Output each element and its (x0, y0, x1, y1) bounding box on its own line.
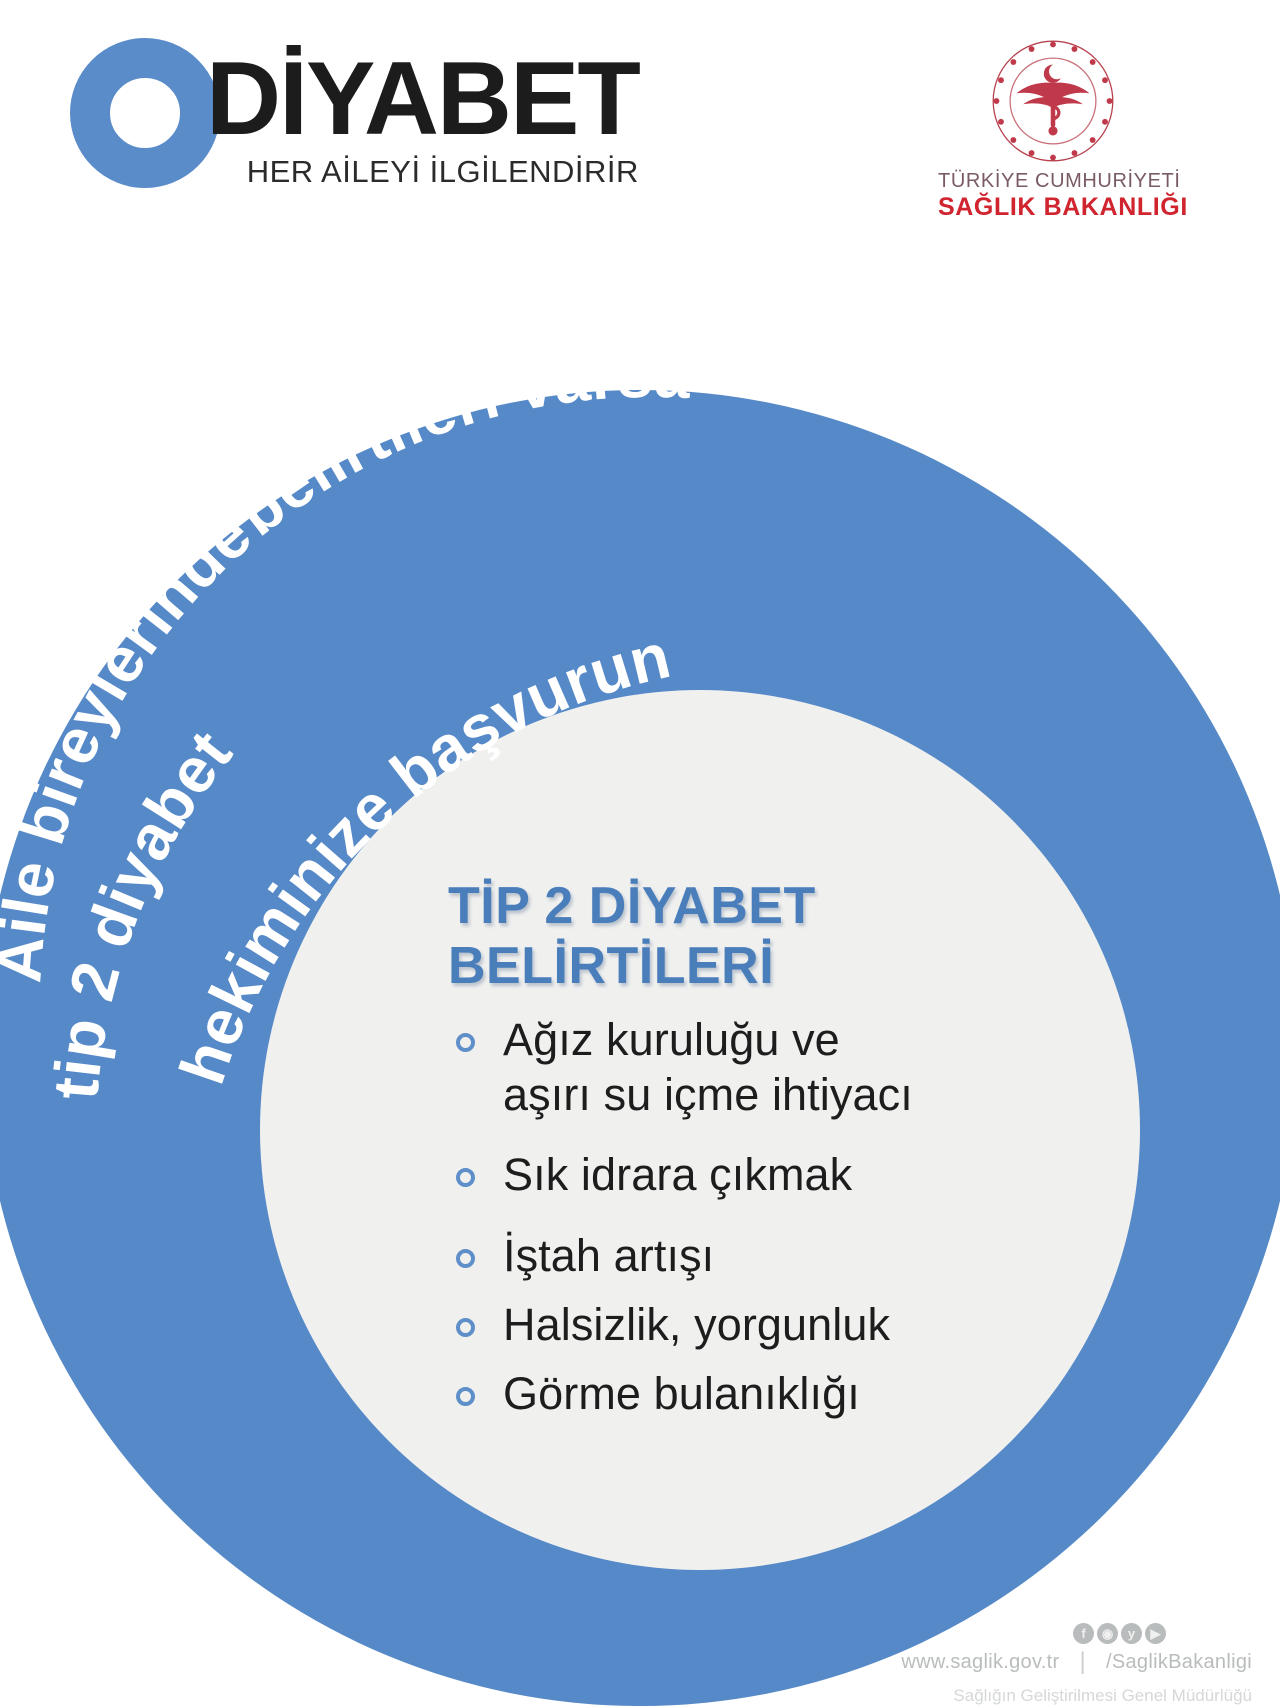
poster-footer: f ◉ y ▶ www.saglik.gov.tr | /SaglikBakan… (792, 1623, 1252, 1706)
footer-divider: | (1079, 1648, 1086, 1676)
hollow-circle-bullet-icon (456, 1249, 475, 1268)
symptoms-panel: TİP 2 DİYABET BELİRTİLERİ Ağız kuruluğu … (448, 876, 1068, 1436)
hollow-circle-bullet-icon (456, 1033, 475, 1052)
symptoms-heading-line-1: TİP 2 DİYABET (448, 877, 816, 935)
brand-text-block: DİYABET HER AİLEYİ İLGİLENDİRİR (206, 34, 639, 190)
symptoms-heading: TİP 2 DİYABET BELİRTİLERİ (448, 876, 1068, 997)
hollow-circle-bullet-icon (456, 1168, 475, 1187)
symptom-text: Görme bulanıklığı (503, 1367, 860, 1422)
symptom-text: Sık idrara çıkmak (503, 1148, 852, 1203)
ministry-line-2: SAĞLIK BAKANLIĞI (938, 193, 1168, 222)
symptom-text: İştah artışı (503, 1229, 714, 1284)
brand-subtitle: HER AİLEYİ İLGİLENDİRİR (206, 154, 639, 190)
diabetes-awareness-poster: Aile bireylerinde belirtileri varsa tip … (0, 0, 1280, 1706)
ministry-line-1: TÜRKİYE CUMHURİYETİ (938, 170, 1168, 193)
youtube-icon[interactable]: ▶ (1145, 1623, 1166, 1644)
diyabet-logo-lockup: DİYABET HER AİLEYİ İLGİLENDİRİR (70, 34, 639, 190)
website-url[interactable]: www.saglik.gov.tr (901, 1651, 1059, 1674)
hollow-circle-bullet-icon (456, 1318, 475, 1337)
concentric-disc-graphic (0, 0, 1280, 1706)
list-item: Görme bulanıklığı (448, 1367, 1068, 1422)
instagram-icon[interactable]: ◉ (1097, 1623, 1118, 1644)
footer-credit: Sağlığın Geliştirilmesi Genel Müdürlüğü (792, 1686, 1252, 1706)
list-item: Halsizlik, yorgunluk (448, 1298, 1068, 1353)
facebook-icon[interactable]: f (1073, 1623, 1094, 1644)
ministry-logo-block: TÜRKİYE CUMHURİYETİ SAĞLIK BAKANLIĞI (938, 36, 1168, 222)
list-item: Sık idrara çıkmak (448, 1148, 1068, 1203)
list-item: Ağız kuruluğu ve aşırı su içme ihtiyacı (448, 1013, 1068, 1123)
twitter-icon[interactable]: y (1121, 1623, 1142, 1644)
poster-header: DİYABET HER AİLEYİ İLGİLENDİRİR (0, 0, 1280, 250)
symptom-0-line-1: Ağız kuruluğu ve (503, 1014, 840, 1065)
symptoms-heading-line-2: BELİRTİLERİ (448, 937, 774, 995)
symptom-0-line-2: aşırı su içme ihtiyacı (503, 1069, 913, 1120)
social-icons-row: f ◉ y ▶ (792, 1623, 1166, 1644)
blue-ring-icon (70, 38, 220, 188)
list-item: İştah artışı (448, 1229, 1068, 1284)
symptom-text: Ağız kuruluğu ve aşırı su içme ihtiyacı (503, 1013, 913, 1123)
page-title: DİYABET (206, 50, 639, 150)
social-handle[interactable]: /SaglikBakanligi (1106, 1651, 1252, 1674)
footer-links-row: www.saglik.gov.tr | /SaglikBakanligi (792, 1648, 1252, 1676)
symptom-text: Halsizlik, yorgunluk (503, 1298, 890, 1353)
symptoms-list: Ağız kuruluğu ve aşırı su içme ihtiyacı … (448, 1013, 1068, 1422)
hollow-circle-bullet-icon (456, 1387, 475, 1406)
turkish-health-ministry-emblem (988, 36, 1118, 166)
